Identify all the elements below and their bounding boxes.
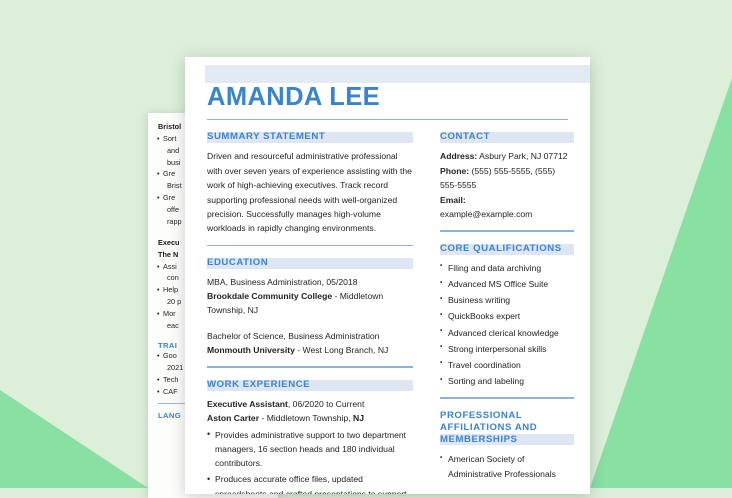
affiliations-heading-line: AFFILIATIONS AND — [440, 422, 574, 434]
education-school: Brookdale Community College - Middletown… — [207, 289, 413, 317]
education-school-name: Monmouth University — [207, 345, 295, 355]
core-qualifications-list: Filing and data archivingAdvanced MS Off… — [440, 261, 574, 388]
contact-address: Address: Asbury Park, NJ 07712 — [440, 149, 574, 163]
work-dates: , 06/2020 to Current — [288, 399, 364, 409]
education-school-name: Brookdale Community College — [207, 291, 332, 301]
affiliations-heading-line: MEMBERSHIPS — [440, 434, 574, 446]
core-qualification-item: Advanced MS Office Suite — [440, 277, 574, 291]
education-list: MBA, Business Administration, 05/2018Bro… — [207, 275, 413, 357]
contact-email-value[interactable]: example@example.com — [440, 207, 574, 221]
core-qualification-item: Advanced clerical knowledge — [440, 326, 574, 340]
contact-phone-label: Phone: — [440, 166, 469, 176]
core-qualification-item: Business writing — [440, 293, 574, 307]
core-qualification-item: Sorting and labeling — [440, 374, 574, 388]
core-qualification-item: QuickBooks expert — [440, 309, 574, 323]
education-degree: Bachelor of Science, Business Administra… — [207, 329, 413, 343]
education-school-location: - West Long Branch, NJ — [295, 345, 388, 355]
affiliations-heading-line: PROFESSIONAL — [440, 410, 574, 422]
contact-address-label: Address: — [440, 151, 477, 161]
page-title: AMANDA LEE — [207, 84, 568, 112]
work-company-state: NJ — [353, 413, 364, 423]
education-school: Monmouth University - West Long Branch, … — [207, 343, 413, 357]
summary-text: Driven and resourceful administrative pr… — [207, 149, 413, 236]
section-heading-work-experience-label: WORK EXPERIENCE — [207, 379, 413, 391]
section-divider — [440, 230, 574, 231]
section-heading-work-experience: WORK EXPERIENCE — [207, 379, 413, 391]
section-divider — [440, 397, 574, 398]
work-bullet: Provides administrative support to two d… — [207, 428, 413, 471]
contact-address-value: Asbury Park, NJ 07712 — [477, 151, 567, 161]
education-entry-gap — [207, 317, 413, 329]
section-heading-contact-label: CONTACT — [440, 131, 574, 143]
section-heading-contact: CONTACT — [440, 131, 574, 143]
right-column: CONTACT Address: Asbury Park, NJ 07712 P… — [428, 131, 590, 494]
core-qualification-item: Filing and data archiving — [440, 261, 574, 275]
contact-phone: Phone: (555) 555-5555, (555) 555-5555 — [440, 164, 574, 193]
name-divider — [207, 119, 568, 120]
work-company-location: - Middletown Township, — [259, 413, 353, 423]
contact-email-label: Email: — [440, 195, 466, 205]
work-company-line: Aston Carter - Middletown Township, NJ — [207, 411, 413, 425]
work-job-title: Executive Assistant — [207, 399, 288, 409]
contact-email-label-line: Email: — [440, 193, 574, 207]
work-bullet: Produces accurate office files, updated … — [207, 472, 413, 494]
affiliation-item: American Society of Administrative Profe… — [440, 452, 574, 480]
work-experience-list: Executive Assistant, 06/2020 to CurrentA… — [207, 397, 413, 494]
section-heading-core-qualifications: CORE QUALIFICATIONS — [440, 243, 574, 255]
section-heading-affiliations-label: PROFESSIONALAFFILIATIONS ANDMEMBERSHIPS — [440, 410, 574, 447]
section-heading-summary-label: SUMMARY STATEMENT — [207, 131, 413, 143]
work-company-name: Aston Carter — [207, 413, 259, 423]
section-divider — [207, 245, 413, 246]
core-qualification-item: Travel coordination — [440, 358, 574, 372]
section-heading-core-qualifications-label: CORE QUALIFICATIONS — [440, 243, 574, 255]
affiliations-list: American Society of Administrative Profe… — [440, 452, 574, 480]
resume-document[interactable]: AMANDA LEE SUMMARY STATEMENT Driven and … — [185, 57, 590, 494]
work-title-line: Executive Assistant, 06/2020 to Current — [207, 397, 413, 411]
section-heading-education-label: EDUCATION — [207, 257, 413, 269]
section-heading-summary: SUMMARY STATEMENT — [207, 131, 413, 143]
section-divider — [207, 366, 413, 367]
section-heading-affiliations: PROFESSIONALAFFILIATIONS ANDMEMBERSHIPS — [440, 410, 574, 447]
left-column: SUMMARY STATEMENT Driven and resourceful… — [185, 131, 428, 494]
name-block: AMANDA LEE — [185, 57, 590, 120]
education-degree: MBA, Business Administration, 05/2018 — [207, 275, 413, 289]
resume-columns: SUMMARY STATEMENT Driven and resourceful… — [185, 120, 590, 494]
work-bullet-list: Provides administrative support to two d… — [207, 428, 413, 494]
core-qualification-item: Strong interpersonal skills — [440, 342, 574, 356]
section-heading-education: EDUCATION — [207, 257, 413, 269]
